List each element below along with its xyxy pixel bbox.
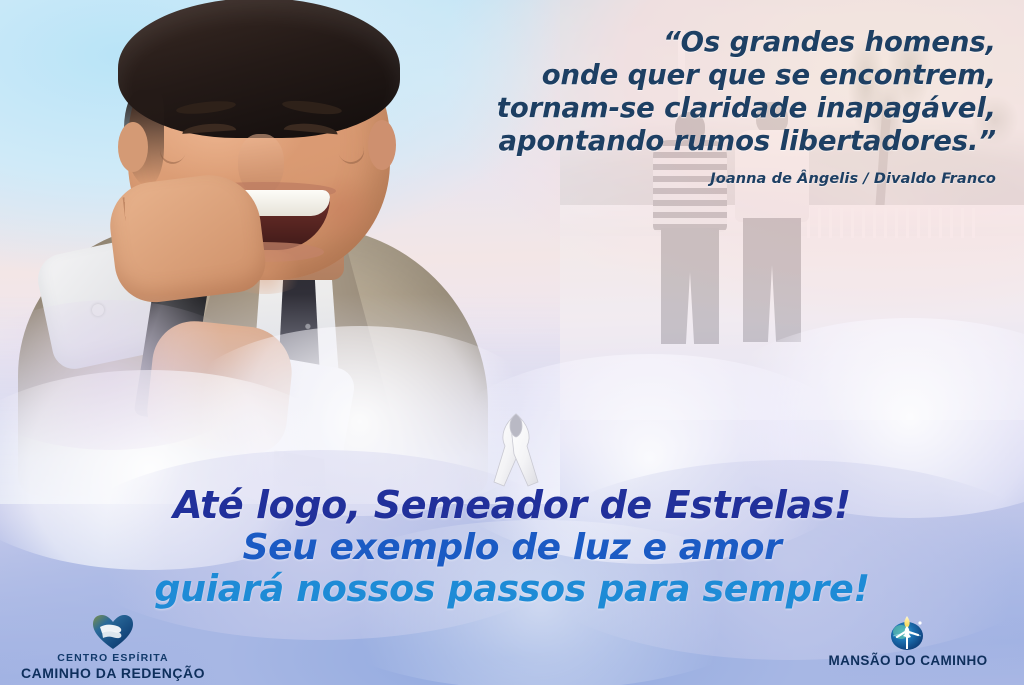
logo-mansao-do-caminho: MANSÃO DO CAMINHO <box>798 612 1018 669</box>
logo-left-line-2: CAMINHO DA REDENÇÃO <box>8 665 218 682</box>
quote-line-3: tornam-se claridade inapagável, <box>236 92 996 125</box>
white-ribbon-icon <box>480 406 552 494</box>
quote-attribution: Joanna de Ângelis / Divaldo Franco <box>236 171 996 187</box>
globe-figure-flame-icon <box>798 612 1018 652</box>
logo-left-line-1: CENTRO ESPÍRITA <box>8 652 218 665</box>
quote-line-4: apontando rumos libertadores.” <box>236 125 996 158</box>
headline-line-1: Até logo, Semeador de Estrelas! <box>0 484 1024 527</box>
quote-line-1: “Os grandes homens, <box>236 26 996 59</box>
quotation-block: “Os grandes homens, onde quer que se enc… <box>236 26 996 187</box>
headline-block: Até logo, Semeador de Estrelas! Seu exem… <box>0 484 1024 610</box>
memorial-poster: “Os grandes homens, onde quer que se enc… <box>0 0 1024 685</box>
logo-right-line-2: MANSÃO DO CAMINHO <box>798 652 1018 669</box>
quote-line-2: onde quer que se encontrem, <box>236 59 996 92</box>
headline-line-2: Seu exemplo de luz e amor <box>0 527 1024 568</box>
logo-centro-espirita: CENTRO ESPÍRITA CAMINHO DA REDENÇÃO <box>8 612 218 682</box>
heart-hands-icon <box>8 612 218 652</box>
headline-line-3: guiará nossos passos para sempre! <box>0 568 1024 610</box>
